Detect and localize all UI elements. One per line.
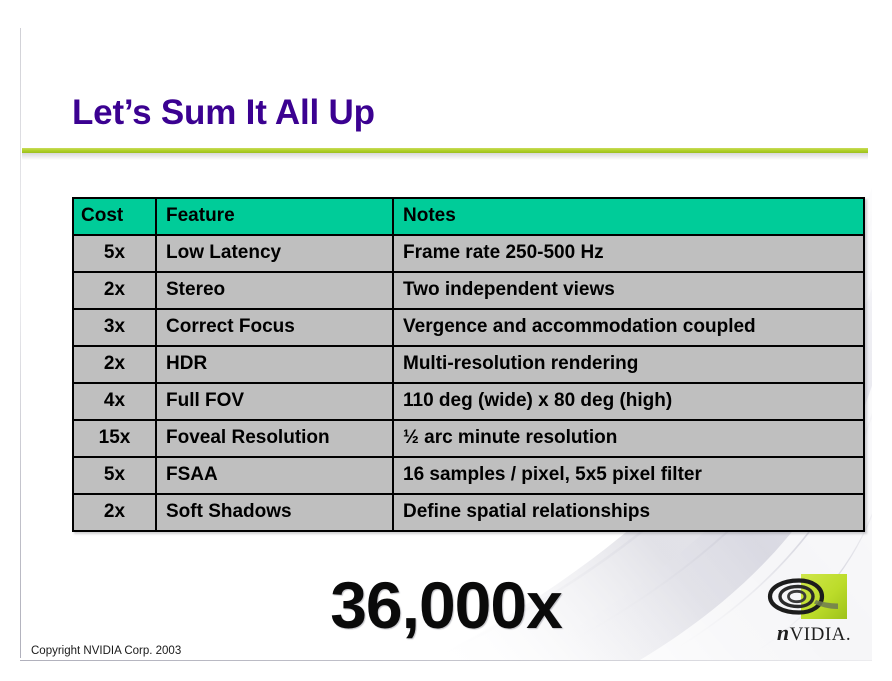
column-header-cost: Cost <box>73 198 156 235</box>
cell-notes: Two independent views <box>393 272 864 309</box>
cell-cost: 15x <box>73 420 156 457</box>
presentation-slide: Let’s Sum It All Up Cost Feature Notes 5… <box>0 0 892 681</box>
column-header-feature: Feature <box>156 198 393 235</box>
cell-cost: 5x <box>73 235 156 272</box>
copyright-notice: Copyright NVIDIA Corp. 2003 <box>31 645 181 657</box>
cell-feature: Correct Focus <box>156 309 393 346</box>
cell-feature: Full FOV <box>156 383 393 420</box>
cell-notes: 16 samples / pixel, 5x5 pixel filter <box>393 457 864 494</box>
cell-notes: Multi-resolution rendering <box>393 346 864 383</box>
table-row: 3x Correct Focus Vergence and accommodat… <box>73 309 864 346</box>
cell-cost: 2x <box>73 272 156 309</box>
cell-feature: Low Latency <box>156 235 393 272</box>
cell-notes: 110 deg (wide) x 80 deg (high) <box>393 383 864 420</box>
table-row: 2x Soft Shadows Define spatial relations… <box>73 494 864 531</box>
table-row: 2x HDR Multi-resolution rendering <box>73 346 864 383</box>
nvidia-eye-icon <box>760 572 852 622</box>
cell-cost: 2x <box>73 346 156 383</box>
svg-text:nVIDIA.: nVIDIA. <box>777 620 851 645</box>
table-row: 4x Full FOV 110 deg (wide) x 80 deg (hig… <box>73 383 864 420</box>
title-underline-rule <box>22 148 868 153</box>
cell-notes: Define spatial relationships <box>393 494 864 531</box>
cell-cost: 2x <box>73 494 156 531</box>
cell-cost: 4x <box>73 383 156 420</box>
column-header-notes: Notes <box>393 198 864 235</box>
slide-title: Let’s Sum It All Up <box>72 93 375 133</box>
cell-cost: 5x <box>73 457 156 494</box>
cell-cost: 3x <box>73 309 156 346</box>
bottom-border-rule <box>20 660 872 661</box>
table-row: 5x Low Latency Frame rate 250-500 Hz <box>73 235 864 272</box>
cell-feature: Soft Shadows <box>156 494 393 531</box>
title-rule-shadow <box>22 153 868 160</box>
left-border-rule <box>20 28 21 658</box>
table-row: 2x Stereo Two independent views <box>73 272 864 309</box>
nvidia-logo: nVIDIA. <box>752 572 876 650</box>
cell-feature: Foveal Resolution <box>156 420 393 457</box>
cell-feature: HDR <box>156 346 393 383</box>
table-header-row: Cost Feature Notes <box>73 198 864 235</box>
cell-feature: FSAA <box>156 457 393 494</box>
cell-notes: Frame rate 250-500 Hz <box>393 235 864 272</box>
cell-feature: Stereo <box>156 272 393 309</box>
cell-notes: Vergence and accommodation coupled <box>393 309 864 346</box>
table-row: 5x FSAA 16 samples / pixel, 5x5 pixel fi… <box>73 457 864 494</box>
summary-table: Cost Feature Notes 5x Low Latency Frame … <box>72 197 865 532</box>
table-row: 15x Foveal Resolution ½ arc minute resol… <box>73 420 864 457</box>
nvidia-wordmark: nVIDIA. <box>752 620 876 646</box>
cell-notes: ½ arc minute resolution <box>393 420 864 457</box>
